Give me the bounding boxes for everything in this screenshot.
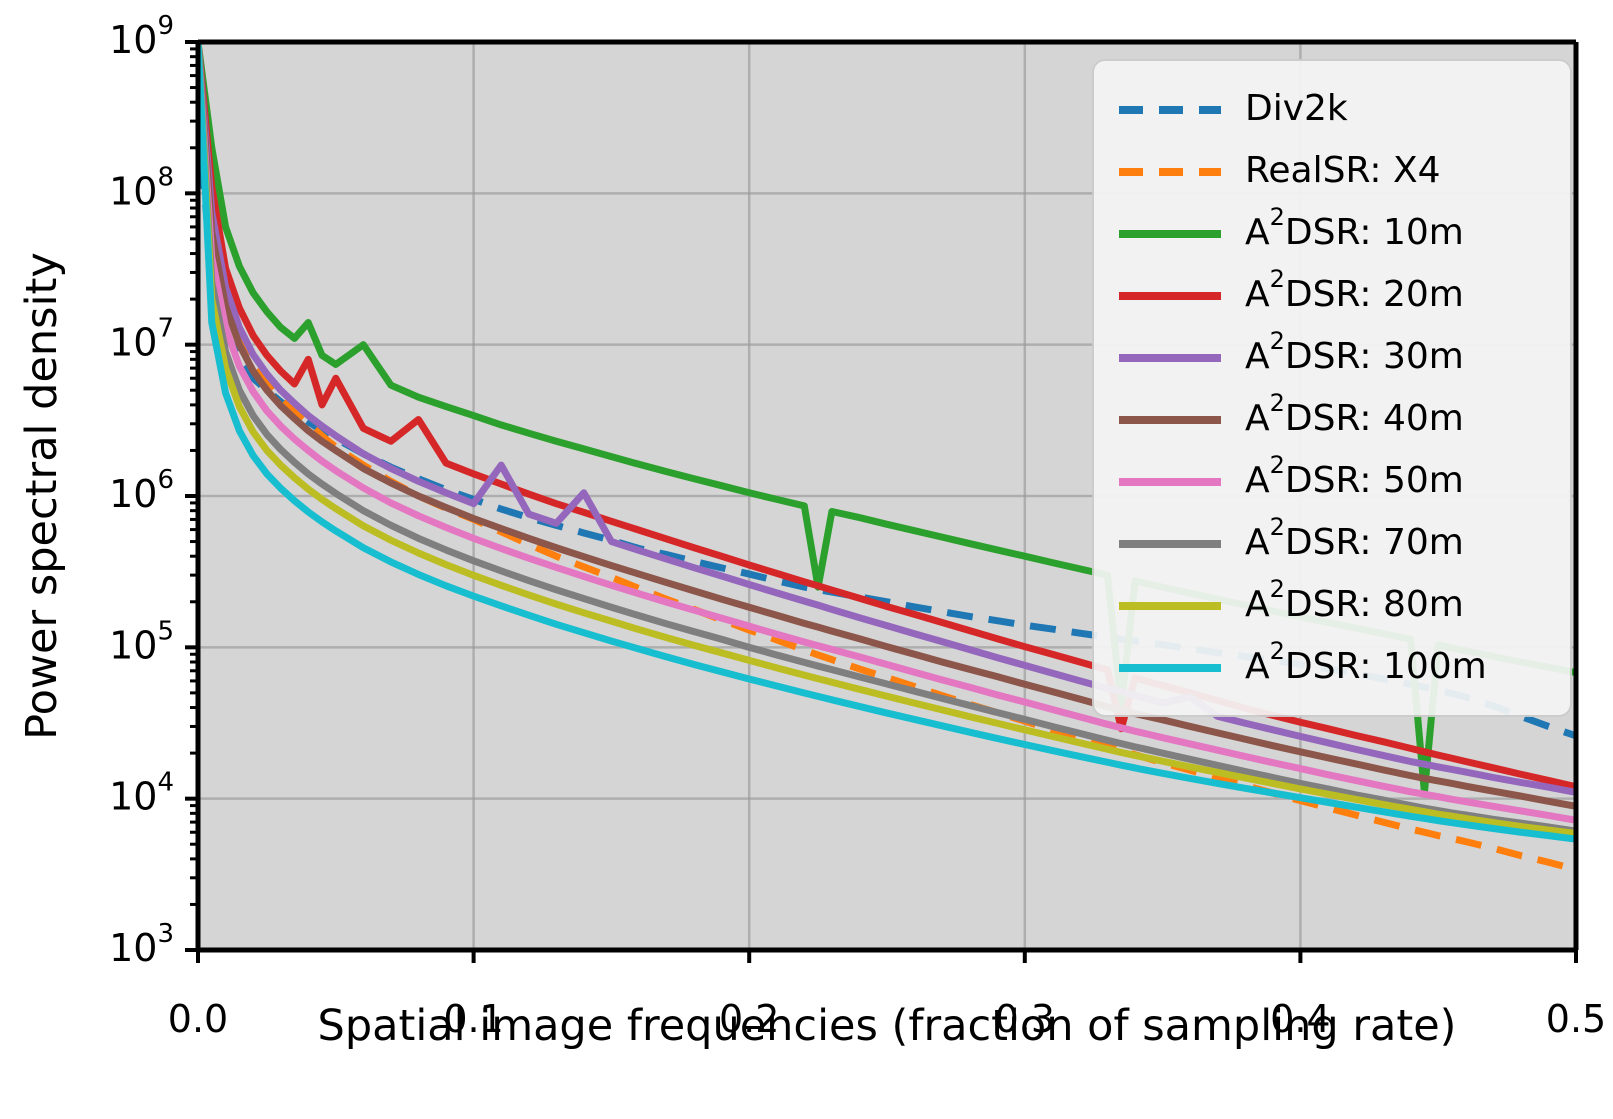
- legend-label-superscript: 2: [1270, 637, 1285, 665]
- y-tick-mantissa: 10: [109, 320, 157, 364]
- legend-label-1: RealSR: X4: [1245, 150, 1441, 191]
- y-tick-label: 106: [109, 465, 174, 516]
- legend-label-superscript: 2: [1270, 327, 1285, 355]
- y-tick-mantissa: 10: [109, 623, 157, 667]
- legend-label-superscript: 2: [1270, 451, 1285, 479]
- legend-label-base: A: [1245, 212, 1270, 253]
- y-tick-exponent: 6: [157, 465, 174, 495]
- legend-label-rest: DSR: 30m: [1285, 336, 1464, 377]
- legend-label-base: A: [1245, 336, 1270, 377]
- y-tick-label: 104: [109, 767, 174, 818]
- legend-label-base: A: [1245, 522, 1270, 563]
- y-axis: 103104105106107108109: [109, 11, 198, 970]
- legend-label-base: A: [1245, 460, 1270, 501]
- legend-label-superscript: 2: [1270, 203, 1285, 231]
- y-tick-mantissa: 10: [109, 169, 157, 213]
- legend-label-rest: DSR: 50m: [1285, 460, 1464, 501]
- legend-label-superscript: 2: [1270, 513, 1285, 541]
- y-tick-exponent: 3: [157, 919, 174, 949]
- legend-label-superscript: 2: [1270, 265, 1285, 293]
- y-tick-exponent: 5: [157, 616, 174, 646]
- y-tick-mantissa: 10: [109, 472, 157, 516]
- legend-label-superscript: 2: [1270, 575, 1285, 603]
- legend-label-base: A: [1245, 646, 1270, 687]
- y-tick-mantissa: 10: [109, 18, 157, 62]
- legend-label-rest: DSR: 40m: [1285, 398, 1464, 439]
- figure-container: 0.00.10.20.30.40.5103104105106107108109S…: [0, 0, 1613, 1119]
- y-tick-label: 103: [109, 919, 174, 970]
- legend-label-base: A: [1245, 584, 1270, 625]
- y-tick-exponent: 7: [157, 313, 174, 343]
- chart-legend: Div2kRealSR: X4A2DSR: 10mA2DSR: 20mA2DSR…: [1093, 60, 1571, 716]
- y-tick-label: 105: [109, 616, 174, 667]
- y-tick-label: 109: [109, 11, 174, 62]
- legend-label-rest: DSR: 80m: [1285, 584, 1464, 625]
- x-tick-label: 0.0: [168, 997, 228, 1041]
- y-tick-exponent: 8: [157, 162, 174, 192]
- y-tick-exponent: 9: [157, 11, 174, 41]
- legend-label-superscript: 2: [1270, 389, 1285, 417]
- x-tick-label: 0.5: [1546, 997, 1606, 1041]
- y-tick-mantissa: 10: [109, 774, 157, 818]
- legend-label-base: A: [1245, 398, 1270, 439]
- y-tick-label: 107: [109, 313, 174, 364]
- y-tick-exponent: 4: [157, 767, 174, 797]
- y-tick-label: 108: [109, 162, 174, 213]
- legend-label-rest: DSR: 100m: [1285, 646, 1487, 687]
- legend-label-rest: DSR: 70m: [1285, 522, 1464, 563]
- x-axis-title: Spatial image frequencies (fraction of s…: [318, 1001, 1457, 1051]
- y-axis-title: Power spectral density: [17, 252, 67, 740]
- legend-label-rest: DSR: 10m: [1285, 212, 1464, 253]
- y-tick-mantissa: 10: [109, 926, 157, 970]
- legend-label-base: A: [1245, 274, 1270, 315]
- legend-label-0: Div2k: [1245, 88, 1348, 129]
- psd-line-chart: 0.00.10.20.30.40.5103104105106107108109S…: [0, 0, 1613, 1119]
- legend-label-rest: DSR: 20m: [1285, 274, 1464, 315]
